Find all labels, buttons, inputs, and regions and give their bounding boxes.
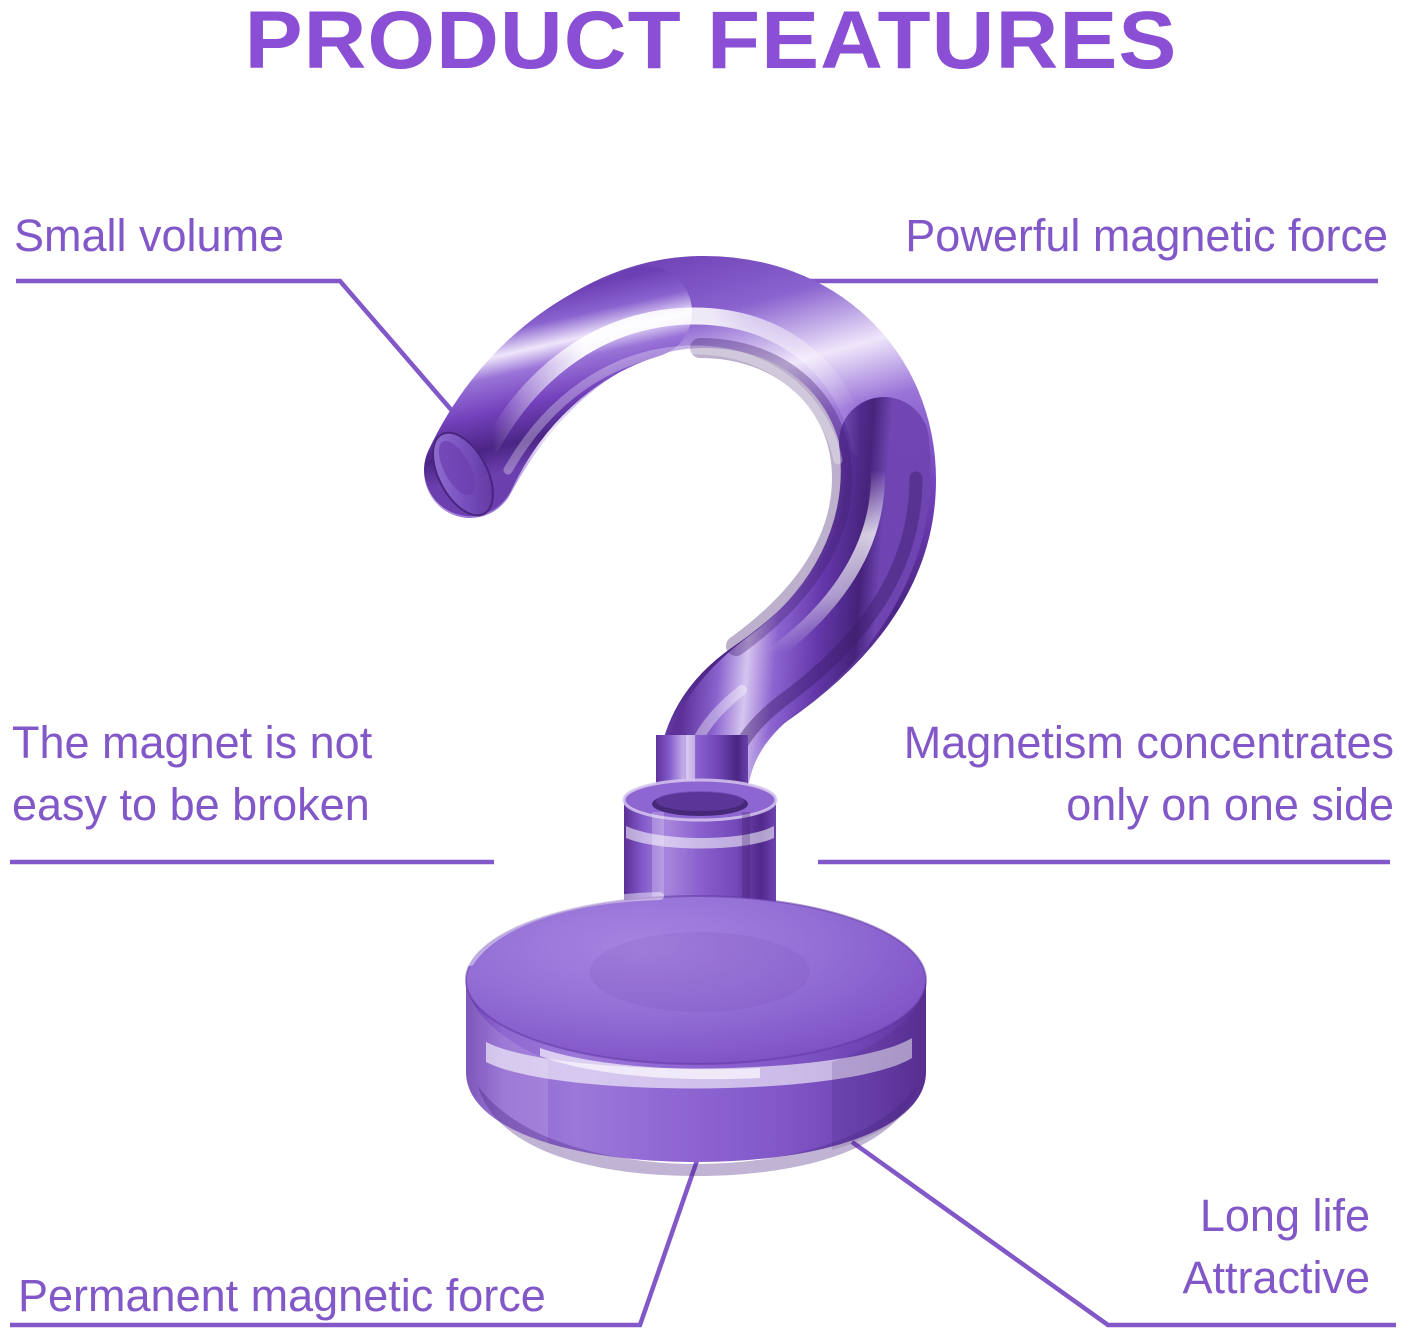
product-features-infographic: PRODUCT FEATURES bbox=[0, 0, 1422, 1339]
feature-label-powerful-magnetic-force: Powerful magnetic force bbox=[748, 205, 1388, 267]
feature-label-permanent-magnetic-force: Permanent magnetic force bbox=[18, 1265, 718, 1327]
magnetic-hook-illustration bbox=[0, 0, 1422, 1339]
feature-label-magnetism-one-side: Magnetism concentrates only on one side bbox=[754, 712, 1394, 836]
feature-label-small-volume: Small volume bbox=[14, 205, 534, 267]
magnet-base bbox=[466, 896, 926, 1176]
feature-label-magnet-not-easy-broken: The magnet is not easy to be broken bbox=[12, 712, 532, 836]
feature-label-long-life-attractive: Long life Attractive bbox=[950, 1185, 1370, 1309]
